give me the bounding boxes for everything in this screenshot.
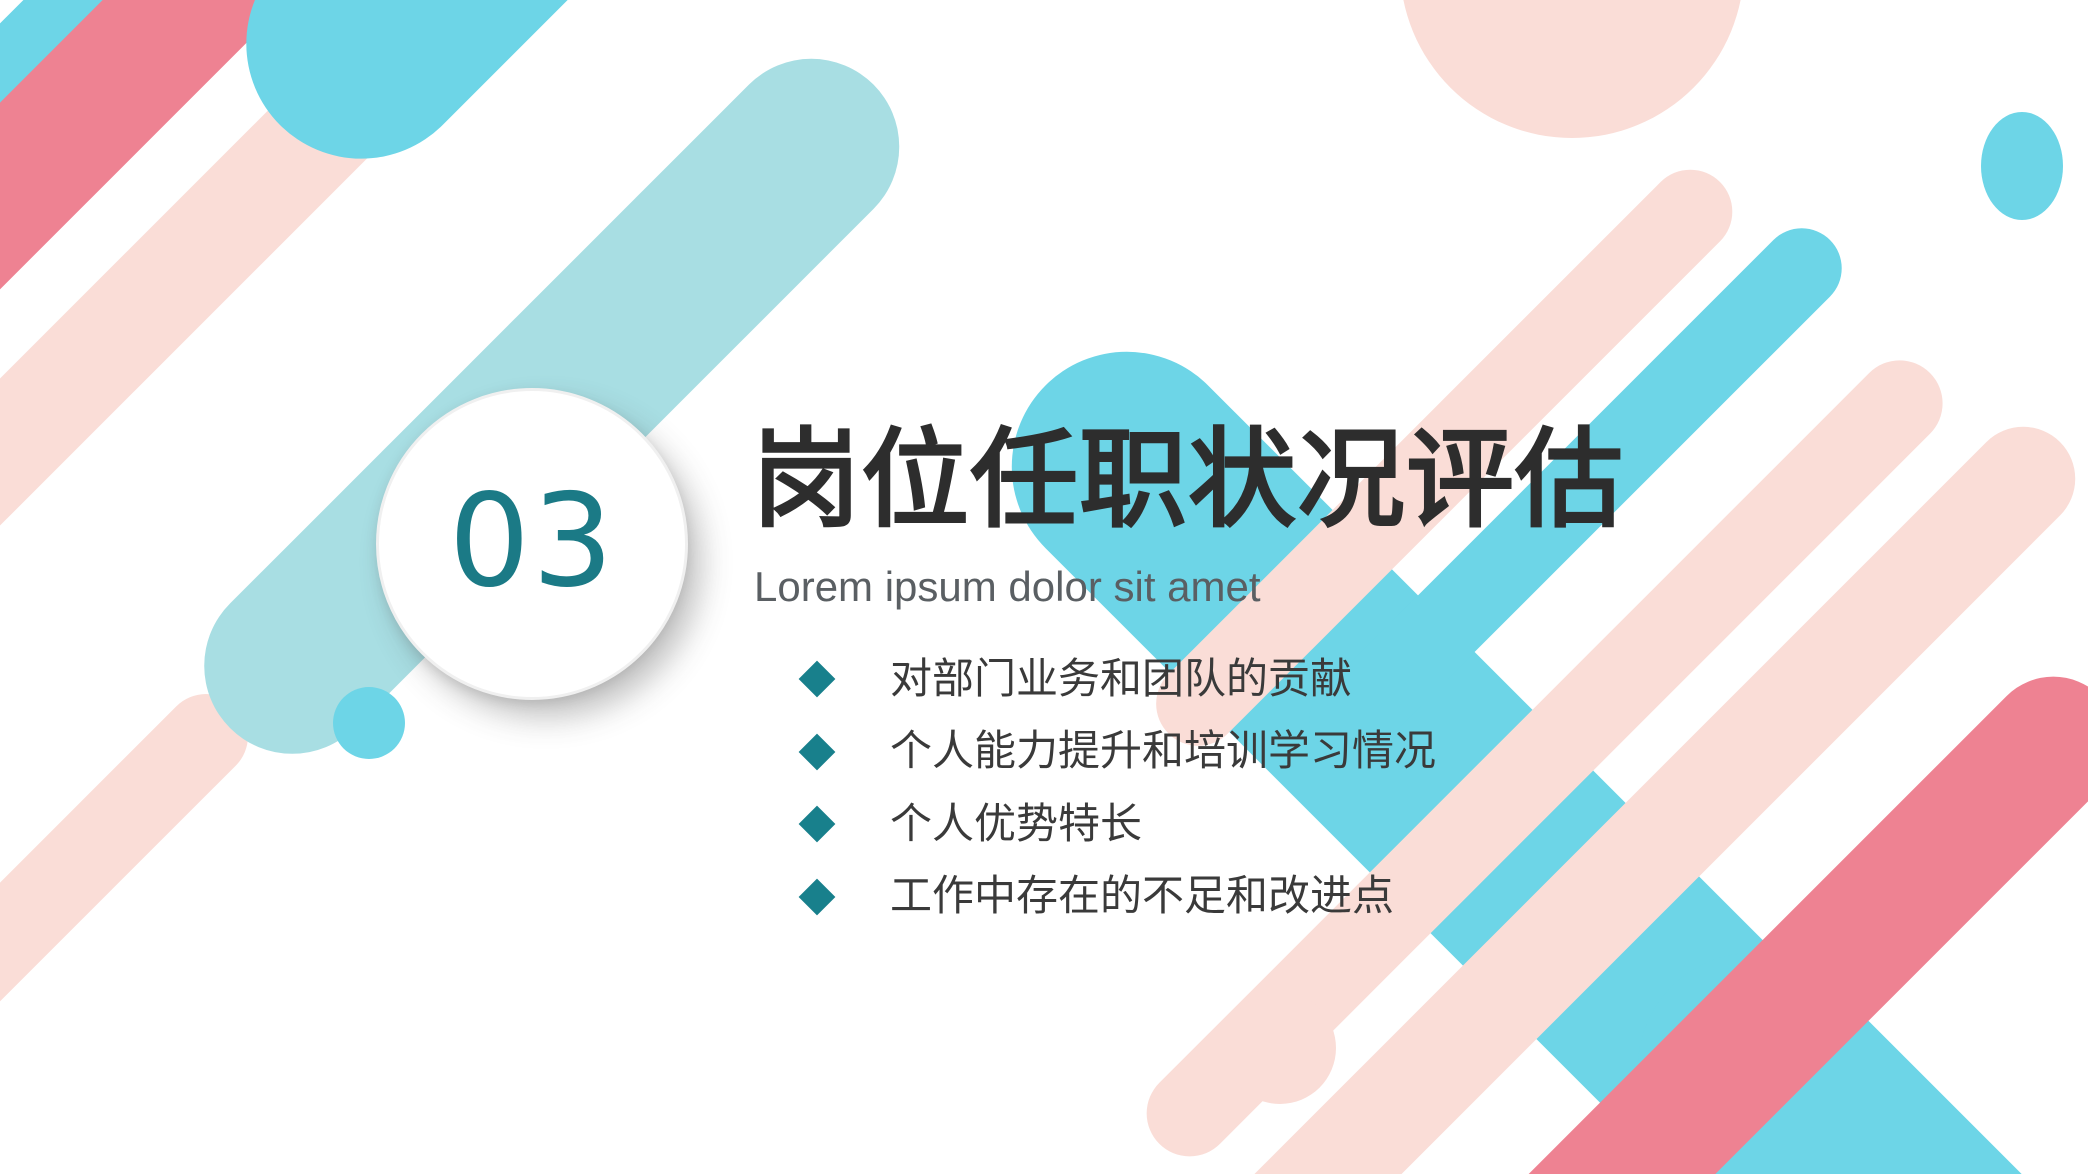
decor-circle-cyan-rightedge bbox=[1981, 112, 2063, 220]
decor-circle-pink-topright bbox=[1400, 0, 1744, 138]
diamond-bullet-icon bbox=[799, 878, 836, 915]
decor-bar-cyan-4 bbox=[1590, 905, 2088, 1174]
list-item: 对部门业务和团队的贡献 bbox=[752, 653, 1624, 706]
decor-circle-cyan-near-medallion bbox=[333, 687, 405, 759]
decor-circle-pink-bottom bbox=[1224, 992, 1336, 1104]
diamond-bullet-icon bbox=[799, 806, 836, 843]
section-number-badge: 03 bbox=[376, 388, 688, 700]
list-item: 工作中存在的不足和改进点 bbox=[752, 870, 1624, 923]
slide-content: 岗位任职状况评估 Lorem ipsum dolor sit amet 对部门业… bbox=[752, 420, 1624, 943]
decor-bar-pink-pale-1 bbox=[0, 0, 384, 223]
decor-bar-pink-pale-3 bbox=[0, 677, 265, 1174]
decor-bar-cyan-1 bbox=[0, 0, 135, 468]
slide-title: 岗位任职状况评估 bbox=[752, 420, 1624, 541]
bullet-label: 个人优势特长 bbox=[890, 798, 1142, 851]
bullet-label: 工作中存在的不足和改进点 bbox=[890, 870, 1394, 923]
diamond-bullet-icon bbox=[799, 661, 836, 698]
diamond-bullet-icon bbox=[799, 733, 836, 770]
list-item: 个人优势特长 bbox=[752, 798, 1624, 851]
presentation-slide: 03 岗位任职状况评估 Lorem ipsum dolor sit amet 对… bbox=[0, 0, 2088, 1174]
bullet-label: 个人能力提升和培训学习情况 bbox=[890, 725, 1436, 778]
slide-subtitle: Lorem ipsum dolor sit amet bbox=[754, 563, 1624, 611]
list-item: 个人能力提升和培训学习情况 bbox=[752, 725, 1624, 778]
section-number-text: 03 bbox=[449, 478, 616, 606]
bullet-label: 对部门业务和团队的贡献 bbox=[890, 653, 1352, 706]
bullet-list: 对部门业务和团队的贡献 个人能力提升和培训学习情况 个人优势特长 工作中存在的不… bbox=[752, 653, 1624, 923]
decor-bar-cyan-2 bbox=[199, 0, 1111, 206]
